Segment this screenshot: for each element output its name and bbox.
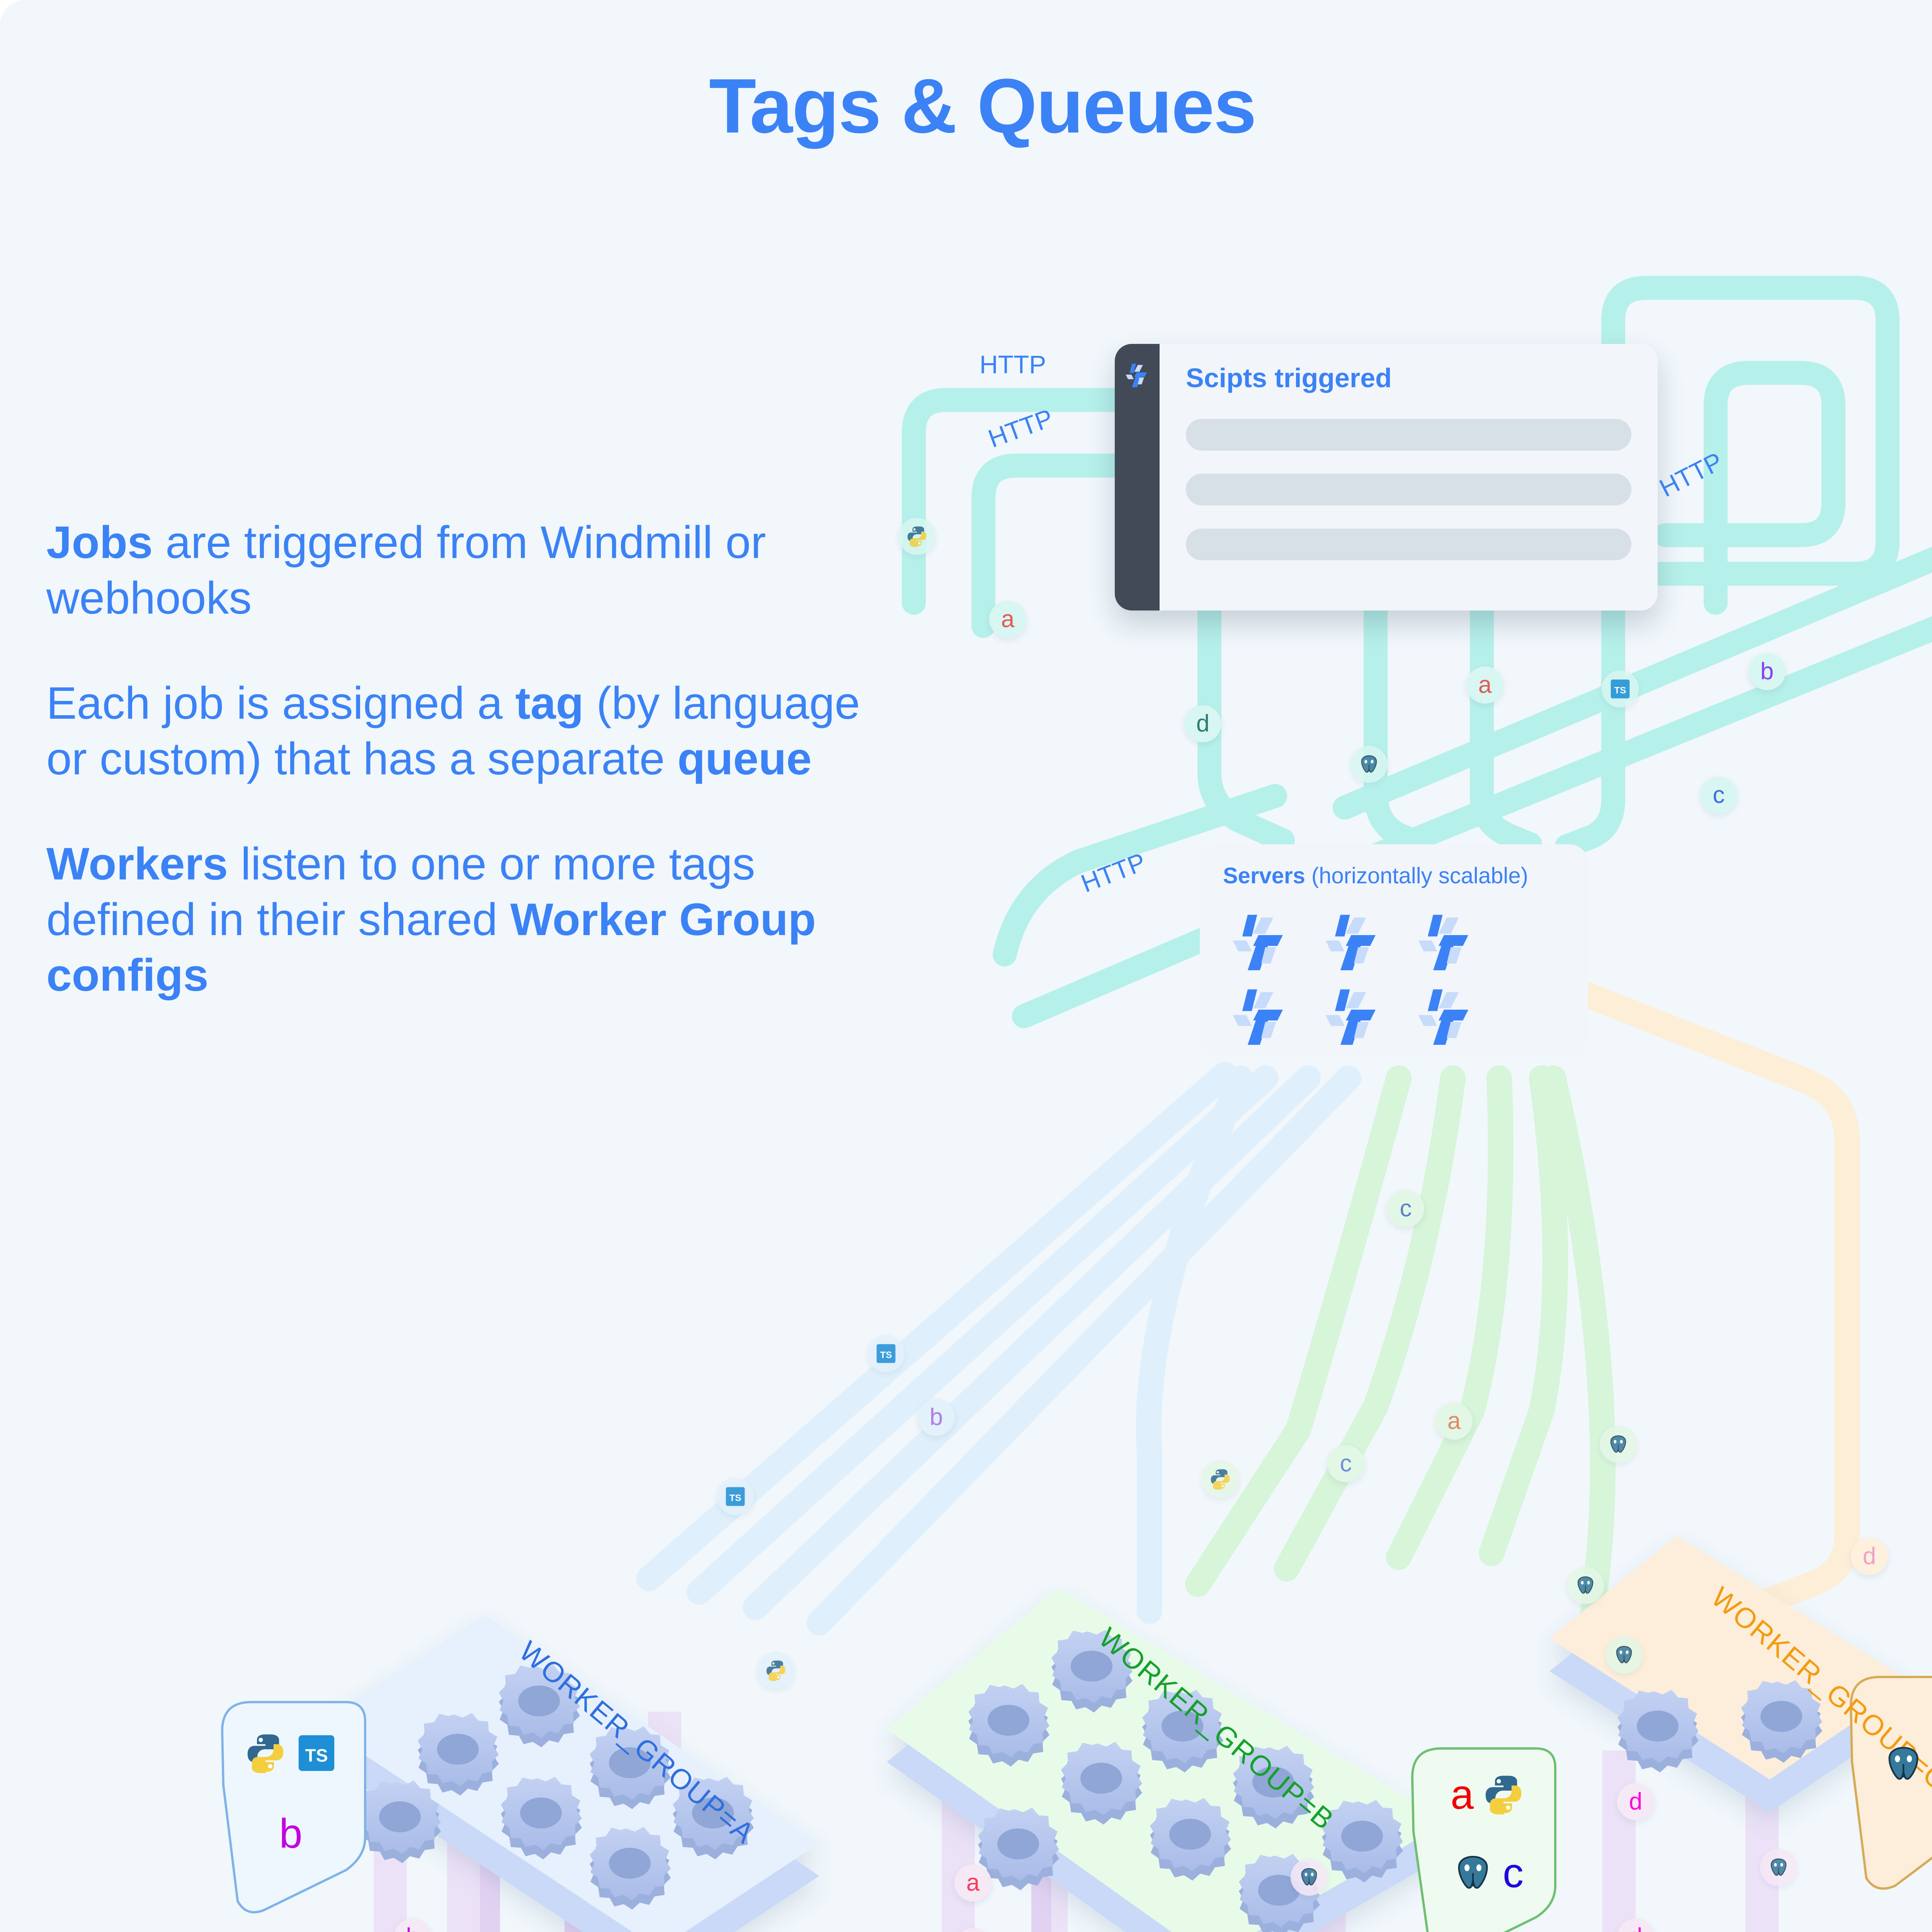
- windmill-logo-icon: [1319, 908, 1392, 976]
- skeleton-row: [1186, 419, 1631, 451]
- python-icon: [244, 1732, 287, 1774]
- python-icon: [898, 518, 935, 555]
- paragraph-jobs-rest: are triggered from Windmill or webhooks: [46, 517, 766, 624]
- paragraph-workers: Workers listen to one or more tags defin…: [46, 837, 889, 1003]
- postgresql-icon: [1600, 1426, 1637, 1463]
- pipe-badge-b: b: [918, 1399, 955, 1436]
- pipe-badge-d: d: [1851, 1538, 1888, 1575]
- windmill-logo-icon: [1319, 983, 1392, 1050]
- svg-text:TS: TS: [880, 1350, 892, 1361]
- typescript-icon: TS: [295, 1732, 338, 1774]
- postgresql-icon: [1291, 1859, 1328, 1896]
- worker-group-b-tag-chip[interactable]: ac: [1410, 1743, 1565, 1924]
- tag-letter-c: c: [1503, 1852, 1524, 1894]
- paragraph-workers-lead: Workers: [46, 838, 228, 889]
- python-icon: [757, 1652, 794, 1689]
- postgresql-icon: [1452, 1852, 1494, 1894]
- typescript-icon: TS: [867, 1335, 905, 1372]
- paragraph-tag-bold2: queue: [677, 733, 812, 784]
- paragraph-jobs-lead: Jobs: [46, 517, 153, 568]
- scripts-triggered-card[interactable]: Scipts triggered: [1115, 344, 1658, 611]
- scripts-card-sidebar: [1115, 344, 1160, 611]
- worker-group-a-tag-chip[interactable]: TSb: [214, 1700, 367, 1886]
- worker-group-c-tag-chip[interactable]: d: [1843, 1673, 1932, 1855]
- paragraph-tag-bold1: tag: [515, 678, 584, 729]
- paragraph-tag-part1: Each job is assigned a: [46, 678, 515, 729]
- scripts-card-title: Scipts triggered: [1186, 362, 1631, 393]
- windmill-logo-icon: [1226, 908, 1299, 976]
- pipe-badge-d: d: [1184, 705, 1221, 742]
- pipe-badge-a: a: [989, 601, 1026, 638]
- http-label: HTTP: [980, 350, 1046, 379]
- tag-letter-b: b: [279, 1813, 302, 1854]
- pipe-badge-c: c: [1327, 1445, 1364, 1482]
- svg-text:TS: TS: [305, 1745, 328, 1765]
- tag-chip-b-items: ac: [1410, 1743, 1565, 1924]
- servers-label: Servers (horizontally scalable): [1223, 863, 1528, 889]
- pipe-badge-a: a: [954, 1864, 992, 1901]
- typescript-icon: TS: [717, 1478, 754, 1515]
- postgresql-icon: [1350, 746, 1388, 783]
- tag-chip-a-items: TSb: [214, 1700, 367, 1886]
- skeleton-row: [1186, 529, 1631, 560]
- pipe-badge-d: d: [1617, 1783, 1654, 1820]
- tag-letter-a: a: [1451, 1774, 1474, 1815]
- servers-label-bold: Servers: [1223, 863, 1305, 888]
- pipes-to-group-a: [649, 1074, 1349, 1623]
- pipe-badge-c: c: [1700, 777, 1737, 814]
- python-icon: [1202, 1461, 1239, 1498]
- scripts-card-body: Scipts triggered: [1160, 344, 1658, 611]
- postgresql-icon: [1882, 1743, 1925, 1785]
- windmill-logo-icon: [1123, 361, 1151, 611]
- skeleton-row: [1186, 474, 1631, 505]
- postgresql-icon: [1567, 1567, 1604, 1604]
- svg-text:TS: TS: [1614, 685, 1626, 696]
- pipe-badge-a: a: [1435, 1403, 1473, 1440]
- tag-chip-c-items: d: [1843, 1673, 1932, 1855]
- explainer-copy: Jobs are triggered from Windmill or webh…: [46, 469, 889, 1003]
- pipe-badge-b: b: [1748, 653, 1786, 690]
- pipe-badge-c: c: [1387, 1190, 1424, 1227]
- typescript-icon: TS: [1602, 670, 1639, 707]
- windmill-logo-icon: [1412, 908, 1485, 976]
- windmill-logo-icon: [1226, 983, 1299, 1050]
- servers-label-rest: (horizontally scalable): [1305, 863, 1528, 888]
- servers-card: Servers (horizontally scalable): [1200, 844, 1588, 1055]
- infographic-page: Tags & Queues Jobs are triggered from Wi…: [0, 0, 1932, 1932]
- pipe-badge-a: a: [1466, 667, 1503, 704]
- windmill-logo-icon: [1412, 983, 1485, 1050]
- postgresql-icon: [1760, 1849, 1797, 1886]
- page-title: Tags & Queues: [0, 66, 1932, 147]
- python-icon: [1482, 1773, 1525, 1816]
- servers-logo-grid: [1226, 908, 1485, 1050]
- paragraph-jobs: Jobs are triggered from Windmill or webh…: [46, 515, 889, 626]
- postgresql-icon: [1605, 1636, 1643, 1673]
- paragraph-tag: Each job is assigned a tag (by language …: [46, 676, 889, 787]
- svg-text:TS: TS: [729, 1493, 741, 1503]
